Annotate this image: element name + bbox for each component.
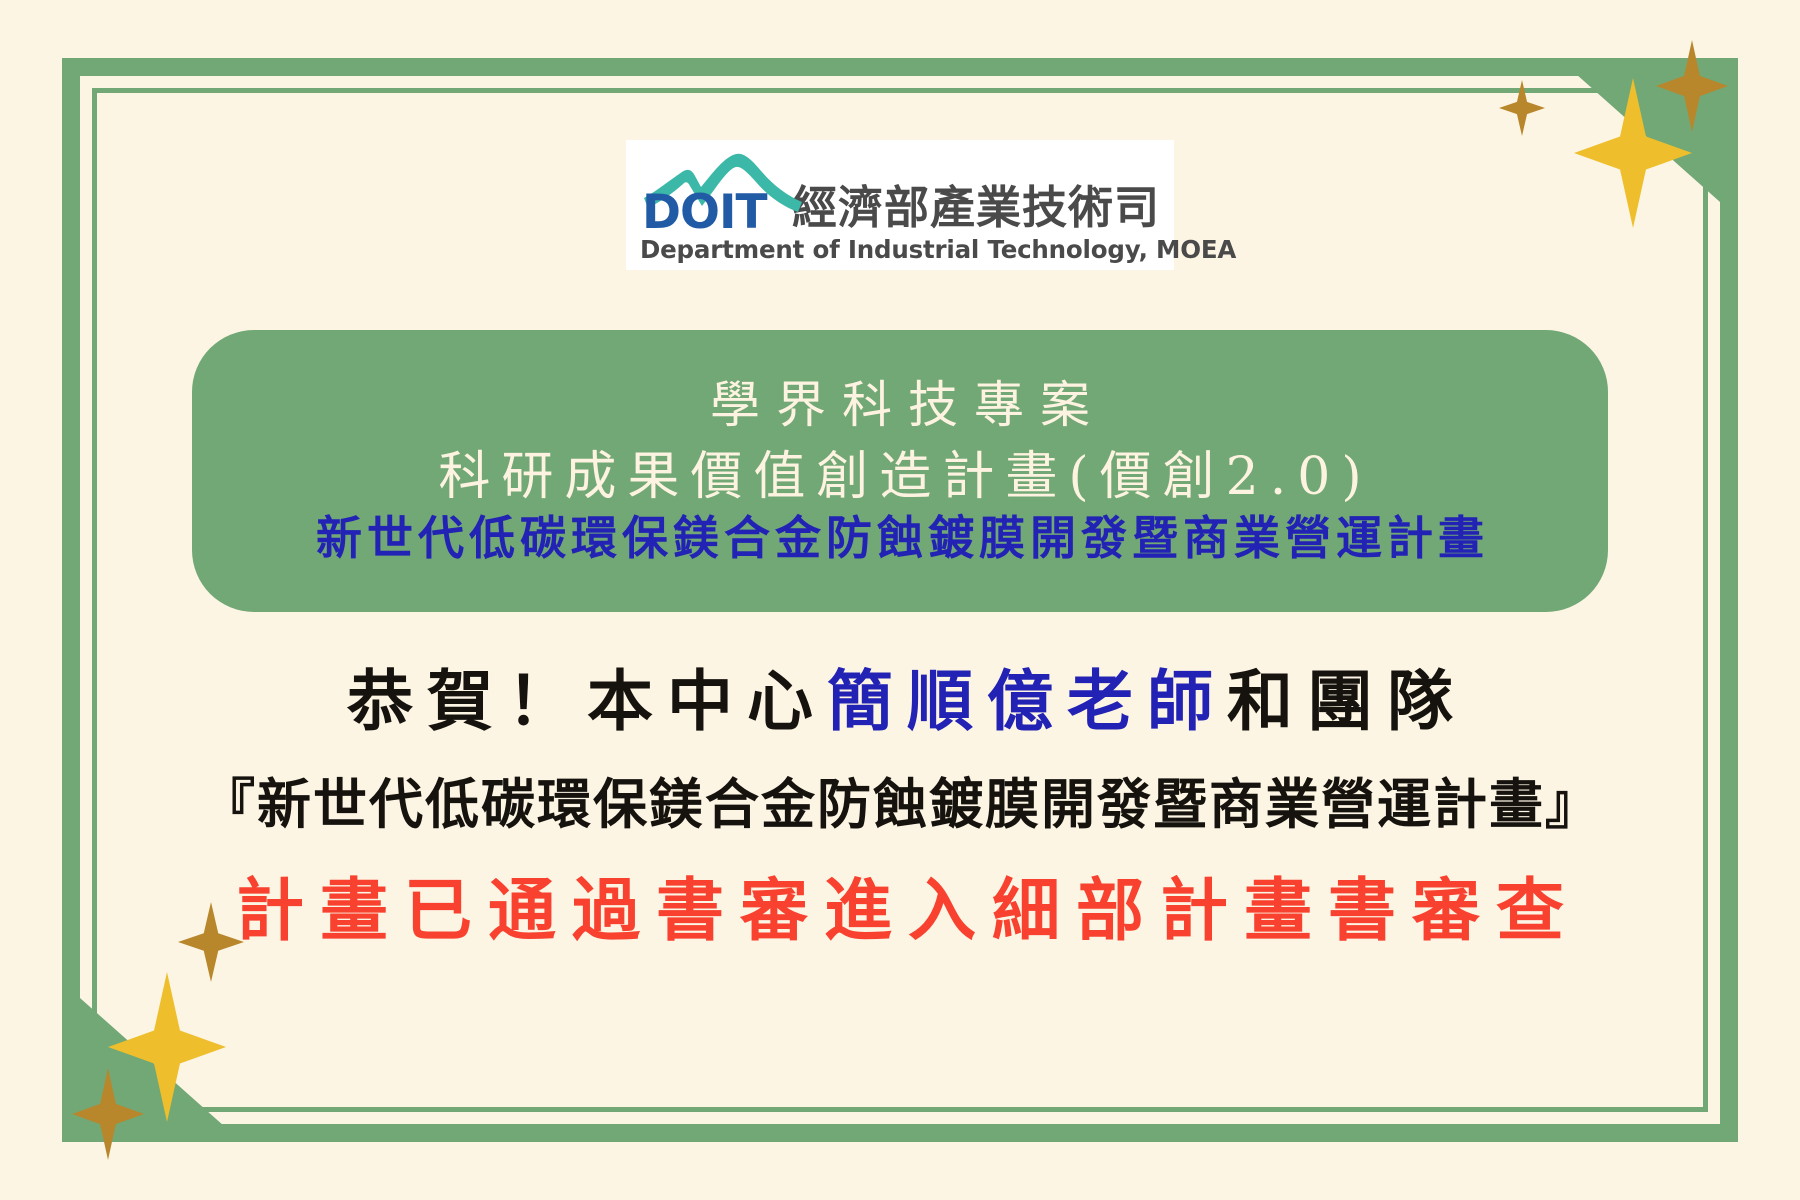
honoree-name: 簡順億老師 <box>827 662 1227 740</box>
poster-canvas: DOIT 經濟部產業技術司 Department of Industrial T… <box>0 0 1800 1200</box>
program-banner: 學界科技專案 科研成果價值創造計畫(價創2.0) 新世代低碳環保鎂合金防蝕鍍膜開… <box>192 330 1608 612</box>
banner-program-name: 科研成果價值創造計畫(價創2.0) <box>427 450 1372 505</box>
logo-primary-row: DOIT 經濟部產業技術司 <box>640 144 1160 232</box>
logo-agency-name-zh: 經濟部產業技術司 <box>792 185 1160 230</box>
doit-logo: DOIT 經濟部產業技術司 Department of Industrial T… <box>626 140 1174 270</box>
congrats-prefix: 恭賀！本中心 <box>347 662 827 740</box>
review-status-line: 計畫已通過書審進入細部計畫書審查 <box>0 855 1800 954</box>
congrats-suffix: 和團隊 <box>1227 662 1467 740</box>
logo-acronym: DOIT <box>642 189 767 236</box>
quoted-project-title: 『新世代低碳環保鎂合金防蝕鍍膜開發暨商業營運計畫』 <box>0 760 1800 839</box>
mountain-icon: DOIT <box>640 146 786 232</box>
banner-program-category: 學界科技專案 <box>694 379 1106 432</box>
banner-project-title: 新世代低碳環保鎂合金防蝕鍍膜開發暨商業營運計畫 <box>311 514 1489 562</box>
congratulation-line: 恭賀！本中心簡順億老師和團隊 <box>0 648 1800 744</box>
